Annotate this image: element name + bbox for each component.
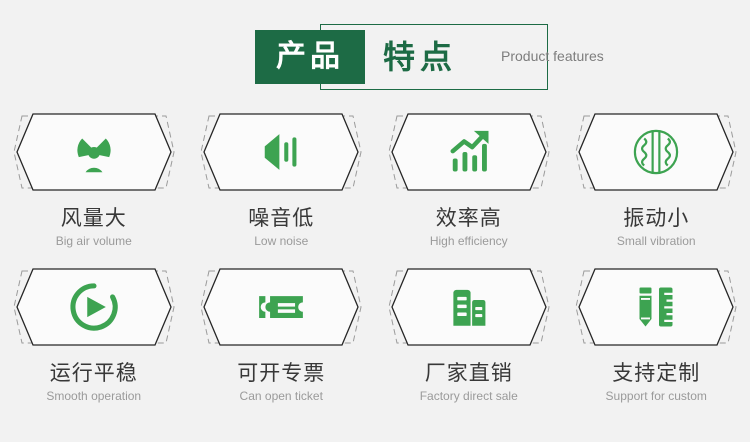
ticket-invoice-icon (198, 264, 364, 350)
hexagon-frame (386, 109, 552, 195)
page-header: 产品 特点 Product features (0, 0, 750, 104)
feature-row: 运行平稳 Smooth operation (0, 259, 750, 414)
feature-subtitle: Factory direct sale (420, 389, 518, 404)
pencil-ruler-icon (573, 264, 739, 350)
feature-subtitle: Small vibration (617, 234, 696, 249)
feature-title: 风量大 (61, 205, 127, 231)
speaker-volume-icon (198, 109, 364, 195)
hexagon-frame (573, 264, 739, 350)
feature-card-small-vibration[interactable]: 振动小 Small vibration (563, 104, 750, 259)
feature-card-high-efficiency[interactable]: 效率高 High efficiency (375, 104, 563, 259)
factory-buildings-icon (386, 264, 552, 350)
header-badge-label: 产品 (276, 42, 344, 72)
hexagon-frame (198, 109, 364, 195)
feature-subtitle: Big air volume (56, 234, 132, 249)
feature-grid: 风量大 Big air volume (0, 104, 750, 442)
feature-title: 厂家直销 (425, 360, 513, 386)
bar-chart-arrow-up-icon (386, 109, 552, 195)
feature-title: 支持定制 (612, 360, 700, 386)
feature-card-smooth-operation[interactable]: 运行平稳 Smooth operation (0, 259, 188, 414)
feature-title: 振动小 (623, 205, 689, 231)
radiation-fan-icon (11, 109, 177, 195)
feature-subtitle: Support for custom (606, 389, 707, 404)
feature-card-support-for-custom[interactable]: 支持定制 Support for custom (563, 259, 750, 414)
feature-subtitle: High efficiency (430, 234, 508, 249)
page-title: 特点 (383, 32, 457, 82)
play-circle-arrow-icon (11, 264, 177, 350)
feature-subtitle: Can open ticket (240, 389, 323, 404)
feature-card-factory-direct-sale[interactable]: 厂家直销 Factory direct sale (375, 259, 563, 414)
hexagon-frame (198, 264, 364, 350)
feature-row: 风量大 Big air volume (0, 104, 750, 259)
feature-subtitle: Low noise (254, 234, 308, 249)
feature-title: 效率高 (436, 205, 502, 231)
feature-subtitle: Smooth operation (46, 389, 141, 404)
hexagon-frame (573, 109, 739, 195)
feature-card-low-noise[interactable]: 噪音低 Low noise (188, 104, 376, 259)
hexagon-frame (11, 109, 177, 195)
vibration-circle-icon (573, 109, 739, 195)
page-subtitle: Product features (501, 46, 604, 66)
hexagon-frame (386, 264, 552, 350)
feature-title: 运行平稳 (50, 360, 138, 386)
feature-card-can-open-ticket[interactable]: 可开专票 Can open ticket (188, 259, 376, 414)
feature-title: 可开专票 (237, 360, 325, 386)
header-badge: 产品 (255, 30, 365, 84)
feature-card-big-air-volume[interactable]: 风量大 Big air volume (0, 104, 188, 259)
hexagon-frame (11, 264, 177, 350)
feature-title: 噪音低 (248, 205, 314, 231)
